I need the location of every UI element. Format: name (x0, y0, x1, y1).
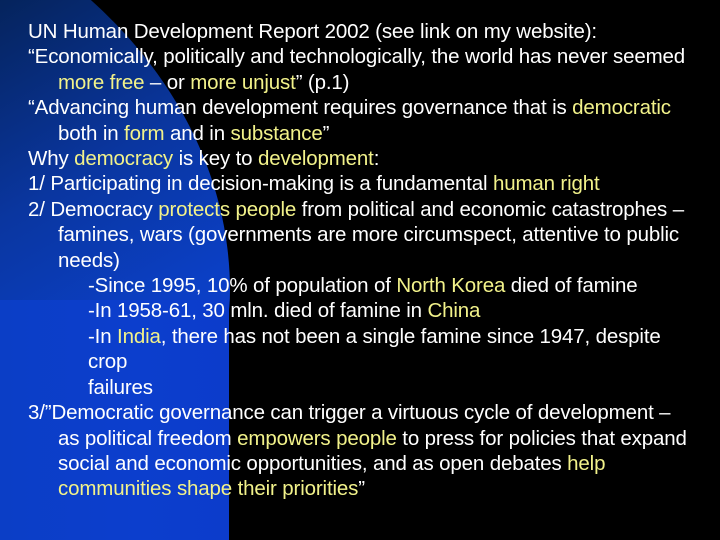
plain-text: 3/”Democratic governance can trigger a v… (28, 401, 670, 424)
plain-text: -In 1958-61, 30 mln. died of famine in (88, 299, 427, 322)
plain-text: famines, wars (governments are more circ… (58, 223, 679, 246)
text-line: both in form and in substance” (28, 121, 700, 146)
plain-text: failures (88, 376, 153, 399)
text-line: failures (28, 375, 700, 400)
plain-text: to press for policies that expand (397, 427, 687, 450)
highlighted-text: communities shape their priorities (58, 477, 358, 500)
text-line: UN Human Development Report 2002 (see li… (28, 19, 700, 44)
highlighted-text: more unjust (190, 71, 295, 94)
text-line: communities shape their priorities” (28, 476, 700, 501)
plain-text: 2/ Democracy (28, 198, 158, 221)
presentation-slide: UN Human Development Report 2002 (see li… (0, 0, 720, 540)
plain-text: ” (323, 122, 330, 145)
plain-text: and in (164, 122, 230, 145)
text-line: -In 1958-61, 30 mln. died of famine in C… (28, 298, 700, 323)
plain-text: ” (p.1) (296, 71, 350, 94)
text-line: social and economic opportunities, and a… (28, 451, 700, 476)
text-line: more free – or more unjust” (p.1) (28, 70, 700, 95)
plain-text: needs) (58, 249, 120, 272)
plain-text: “Economically, politically and technolog… (28, 45, 685, 68)
text-line: -Since 1995, 10% of population of North … (28, 273, 700, 298)
plain-text: from political and economic catastrophes… (296, 198, 684, 221)
highlighted-text: substance (231, 122, 323, 145)
slide-body-text: UN Human Development Report 2002 (see li… (28, 19, 700, 502)
plain-text: , there has not been a single famine sin… (88, 325, 666, 373)
plain-text: – or (144, 71, 190, 94)
text-line: Why democracy is key to development: (28, 146, 700, 171)
highlighted-text: protects people (158, 198, 296, 221)
highlighted-text: China (427, 299, 480, 322)
plain-text: UN Human Development Report 2002 (see li… (28, 20, 597, 43)
highlighted-text: help (567, 452, 605, 475)
plain-text: social and economic opportunities, and a… (58, 452, 567, 475)
highlighted-text: democratic (572, 96, 671, 119)
highlighted-text: more free (58, 71, 144, 94)
text-line: 3/”Democratic governance can trigger a v… (28, 400, 700, 425)
text-line: famines, wars (governments are more circ… (28, 222, 700, 247)
highlighted-text: empowers people (237, 427, 397, 450)
text-line: 1/ Participating in decision-making is a… (28, 171, 700, 196)
text-line: “Economically, politically and technolog… (28, 44, 700, 69)
plain-text: -Since 1995, 10% of population of (88, 274, 396, 297)
plain-text: both in (58, 122, 124, 145)
highlighted-text: India (117, 325, 161, 348)
text-line: “Advancing human development requires go… (28, 95, 700, 120)
plain-text: “Advancing human development requires go… (28, 96, 572, 119)
text-line: needs) (28, 248, 700, 273)
text-line: -In India, there has not been a single f… (28, 324, 700, 375)
highlighted-text: development (258, 147, 374, 170)
plain-text: died of famine (505, 274, 637, 297)
plain-text: ” (358, 477, 365, 500)
plain-text: as political freedom (58, 427, 237, 450)
highlighted-text: form (124, 122, 164, 145)
plain-text: Why (28, 147, 74, 170)
highlighted-text: democracy (74, 147, 173, 170)
highlighted-text: North Korea (396, 274, 505, 297)
text-line: as political freedom empowers people to … (28, 426, 700, 451)
plain-text: 1/ Participating in decision-making is a… (28, 172, 493, 195)
plain-text: -In (88, 325, 117, 348)
highlighted-text: human right (493, 172, 600, 195)
plain-text: : (374, 147, 380, 170)
plain-text: is key to (173, 147, 258, 170)
text-line: 2/ Democracy protects people from politi… (28, 197, 700, 222)
